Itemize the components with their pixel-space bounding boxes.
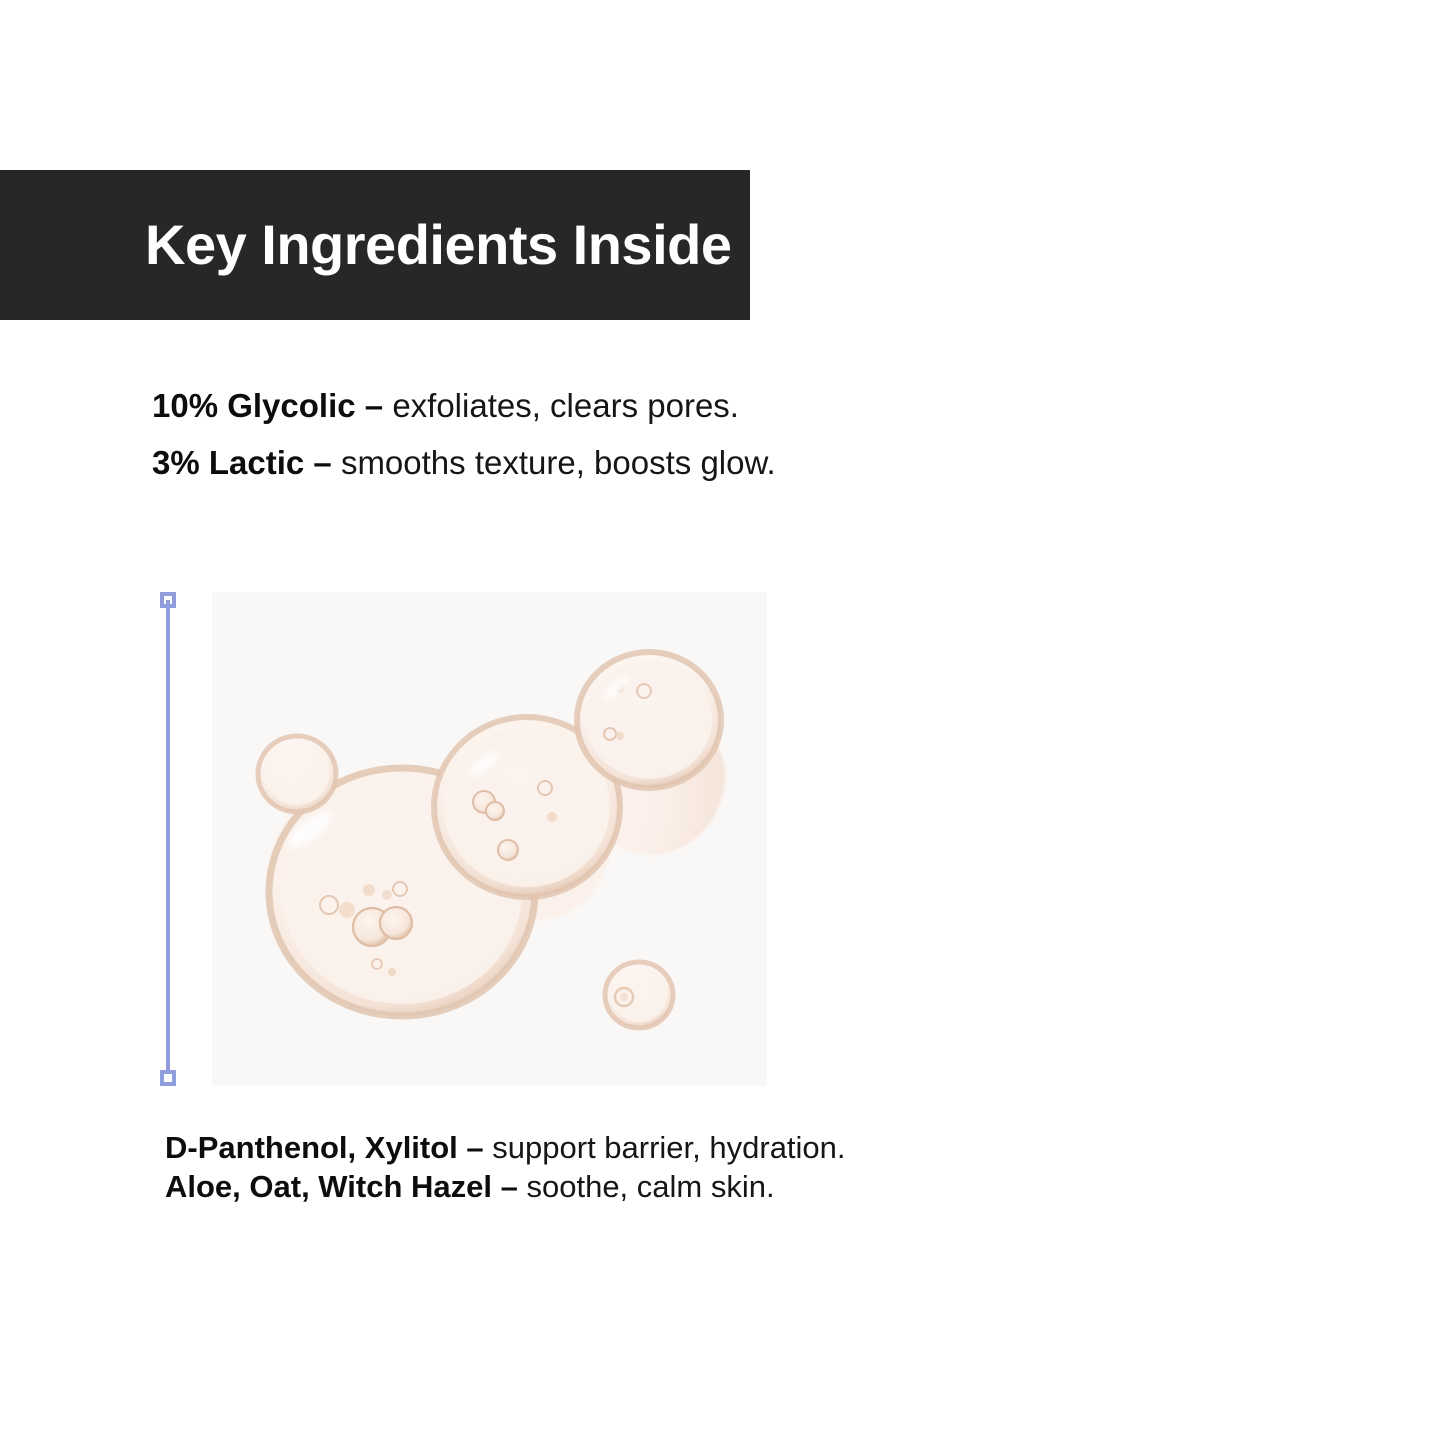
header-banner: Key Ingredients Inside [0, 170, 750, 320]
list-item: Aloe, Oat, Witch Hazel – soothe, calm sk… [165, 1167, 1315, 1206]
selection-handle-bottom-icon[interactable] [160, 1070, 176, 1086]
page-title: Key Ingredients Inside [145, 217, 732, 273]
ingredient-description: smooths texture, boosts glow. [341, 444, 776, 481]
ingredients-bottom-list: D-Panthenol, Xylitol – support barrier, … [165, 1128, 1315, 1207]
selection-bracket-line [166, 600, 170, 1078]
image-selection-bracket[interactable] [160, 592, 176, 1086]
list-item: 3% Lactic – smooths texture, boosts glow… [152, 435, 1252, 492]
product-texture-image[interactable] [212, 592, 767, 1086]
ingredient-description: exfoliates, clears pores. [392, 387, 739, 424]
ingredient-name: 10% Glycolic – [152, 387, 383, 424]
list-item: D-Panthenol, Xylitol – support barrier, … [165, 1128, 1315, 1167]
ingredient-description: support barrier, hydration. [492, 1130, 845, 1165]
ingredient-name: D-Panthenol, Xylitol – [165, 1130, 484, 1165]
ingredients-top-list: 10% Glycolic – exfoliates, clears pores.… [152, 378, 1252, 492]
ingredient-description: soothe, calm skin. [526, 1169, 774, 1204]
ingredient-name: 3% Lactic – [152, 444, 332, 481]
list-item: 10% Glycolic – exfoliates, clears pores. [152, 378, 1252, 435]
serum-droplets-illustration [212, 592, 767, 1086]
ingredient-name: Aloe, Oat, Witch Hazel – [165, 1169, 518, 1204]
